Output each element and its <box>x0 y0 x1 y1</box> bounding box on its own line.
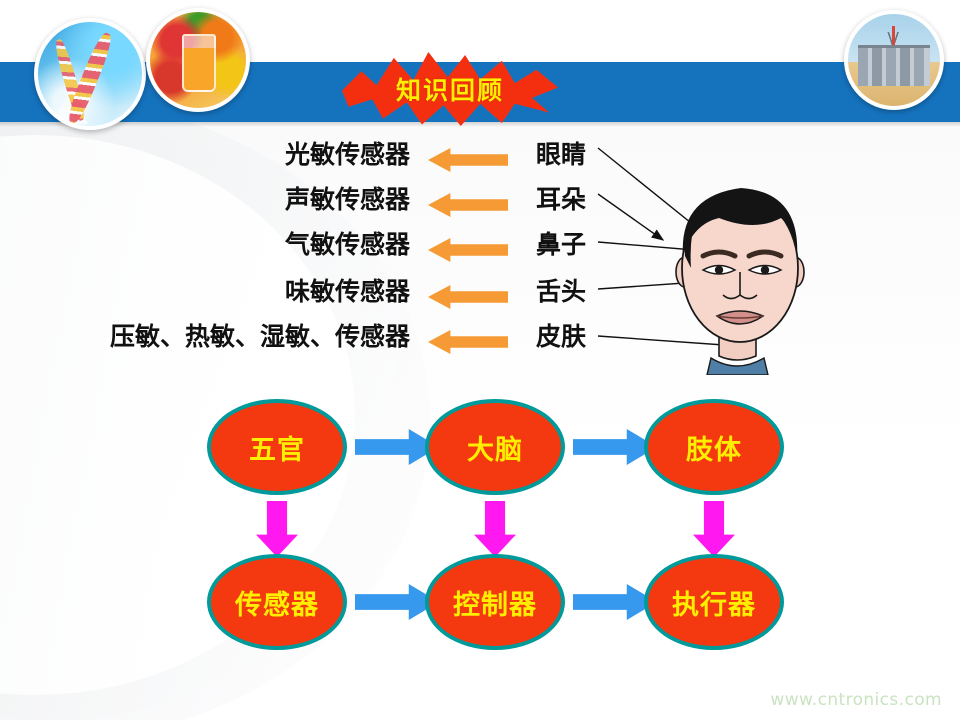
pink-arrow-icon-2 <box>474 501 516 557</box>
dna-lab-photo-icon <box>34 18 146 130</box>
organ-label-3: 鼻子 <box>536 228 586 262</box>
flow-node-top-3[interactable]: 肢体 <box>644 399 784 495</box>
sensor-label-3: 气敏传感器 <box>285 228 410 262</box>
pink-arrow-icon-3 <box>693 501 735 557</box>
flow-node-bottom-2[interactable]: 控制器 <box>425 554 565 650</box>
organ-label-5: 皮肤 <box>536 320 586 354</box>
fruit-juice-photo-icon <box>146 8 250 112</box>
flow-node-bottom-3[interactable]: 执行器 <box>644 554 784 650</box>
watermark-text: www.cntronics.com <box>770 690 942 710</box>
mapping-row-4: 味敏传感器 <box>60 275 410 309</box>
sensor-label-5: 压敏、热敏、湿敏、传感器 <box>110 320 410 354</box>
face-illustration <box>645 160 830 375</box>
orange-arrow-icon-3 <box>428 238 508 262</box>
orange-arrow-icon-5 <box>428 330 508 354</box>
mapping-row-2: 声敏传感器 <box>60 183 410 217</box>
sensor-label-4: 味敏传感器 <box>285 275 410 309</box>
organ-label-4: 舌头 <box>536 275 586 309</box>
mapping-row-1: 光敏传感器 <box>60 138 410 172</box>
orange-arrow-icon-4 <box>428 285 508 309</box>
page-title: 知识回顾 <box>342 52 558 126</box>
silo-tanks <box>858 45 930 86</box>
organ-label-2: 耳朵 <box>536 183 586 217</box>
sensor-label-2: 声敏传感器 <box>285 183 410 217</box>
organ-label-1: 眼睛 <box>536 138 586 172</box>
grain-silo-photo-icon <box>844 10 944 110</box>
flow-node-top-1[interactable]: 五官 <box>207 399 347 495</box>
orange-arrow-icon-2 <box>428 193 508 217</box>
pink-arrow-icon-1 <box>256 501 298 557</box>
mapping-row-5: 压敏、热敏、湿敏、传感器 <box>60 320 410 354</box>
slide-canvas: 知识回顾 光敏传感器 眼睛 声敏传感器 耳朵 气敏传感器 鼻子 味敏传感器 舌头… <box>0 0 960 720</box>
juice-glass-shape <box>182 34 216 92</box>
flow-node-top-2[interactable]: 大脑 <box>425 399 565 495</box>
sensor-label-1: 光敏传感器 <box>285 138 410 172</box>
orange-arrow-icon-1 <box>428 148 508 172</box>
flow-node-bottom-1[interactable]: 传感器 <box>207 554 347 650</box>
mapping-row-3: 气敏传感器 <box>60 228 410 262</box>
